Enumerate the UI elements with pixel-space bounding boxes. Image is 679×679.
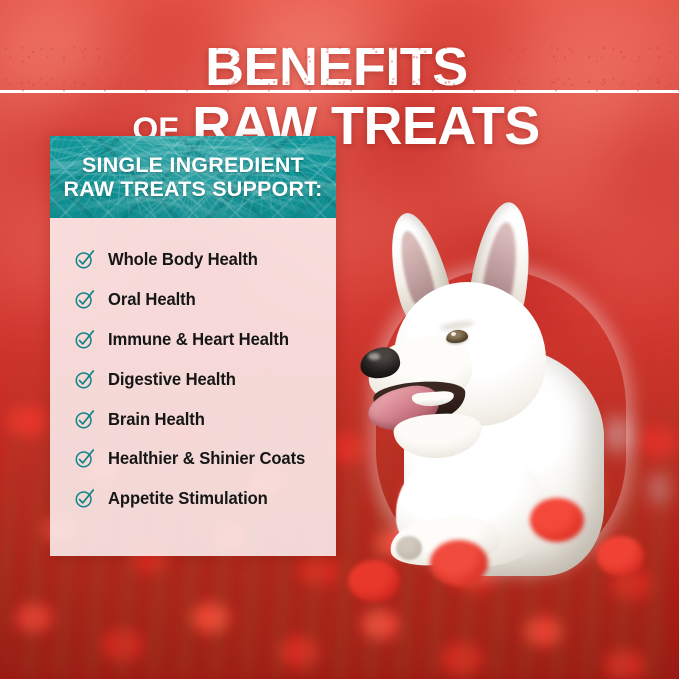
- check-circle-icon: [74, 369, 95, 390]
- benefits-card-heading: SINGLE INGREDIENT RAW TREATS SUPPORT:: [55, 153, 330, 201]
- poster-root: BENEFITSOFRAW TREATS SINGLE INGREDIENT R…: [0, 0, 679, 679]
- dog-eye-highlight: [451, 332, 456, 336]
- check-circle-icon: [74, 329, 95, 350]
- check-circle-icon: [74, 448, 95, 469]
- benefit-label: Healthier & Shinier Coats: [108, 448, 305, 469]
- dog-photo: [352, 196, 652, 556]
- foreground-poppy-3: [430, 540, 488, 586]
- title-of-underline: [0, 90, 679, 93]
- benefit-item: Oral Health: [50, 280, 336, 320]
- check-circle-icon: [74, 249, 95, 270]
- foreground-poppy-1: [530, 498, 584, 542]
- foreground-poppy-4: [348, 560, 400, 602]
- benefit-label: Appetite Stimulation: [108, 488, 268, 509]
- title-word-benefits: BENEFITS: [205, 40, 468, 94]
- benefit-label: Immune & Heart Health: [108, 329, 289, 350]
- dog-paw-toe: [396, 536, 422, 560]
- benefits-card-header: SINGLE INGREDIENT RAW TREATS SUPPORT:: [50, 136, 336, 218]
- dog-nose-highlight: [368, 353, 380, 360]
- check-circle-icon: [74, 409, 95, 430]
- foreground-poppy-2: [596, 536, 644, 576]
- check-circle-icon: [74, 488, 95, 509]
- benefit-label: Whole Body Health: [108, 249, 258, 270]
- benefit-item: Brain Health: [50, 399, 336, 439]
- benefit-item: Immune & Heart Health: [50, 320, 336, 360]
- benefit-item: Digestive Health: [50, 359, 336, 399]
- benefits-list: Whole Body Health Oral Health Immune & H…: [50, 218, 336, 556]
- heading-line-2: RAW TREATS SUPPORT:: [63, 177, 322, 201]
- heading-line-1: SINGLE INGREDIENT: [82, 153, 304, 177]
- check-circle-icon: [74, 289, 95, 310]
- benefit-label: Oral Health: [108, 289, 196, 310]
- benefit-item: Whole Body Health: [50, 240, 336, 280]
- benefit-item: Appetite Stimulation: [50, 479, 336, 519]
- benefit-label: Digestive Health: [108, 369, 236, 390]
- benefit-item: Healthier & Shinier Coats: [50, 439, 336, 479]
- benefits-card: SINGLE INGREDIENT RAW TREATS SUPPORT: Wh…: [50, 136, 336, 556]
- benefit-label: Brain Health: [108, 409, 205, 430]
